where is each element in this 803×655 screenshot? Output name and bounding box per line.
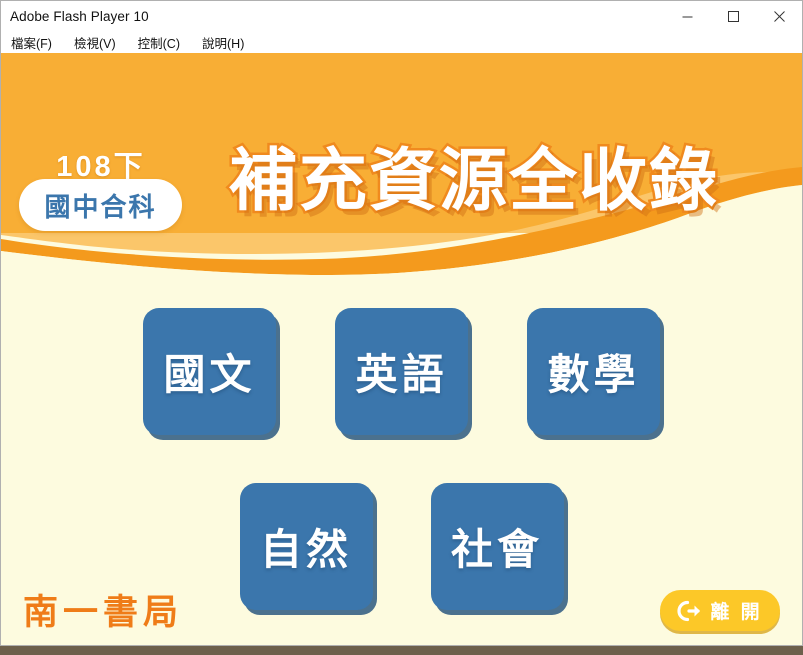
exit-button[interactable]: 離 開: [660, 590, 780, 631]
subject-button-english[interactable]: 英語: [335, 308, 468, 435]
flash-stage: 108下 國中合科 補充資源全收錄 國文 英語 數學: [1, 53, 802, 645]
menu-item-control[interactable]: 控制(C): [136, 32, 182, 53]
minimize-icon: [682, 11, 693, 22]
subject-grid: 國文 英語 數學 自然 社會: [1, 308, 802, 610]
page-title: 補充資源全收錄: [229, 125, 719, 224]
close-icon: [774, 11, 785, 22]
subject-row-1: 國文 英語 數學: [1, 308, 802, 435]
subject-button-math[interactable]: 數學: [527, 308, 660, 435]
exit-button-label: 離 開: [710, 597, 762, 624]
close-button[interactable]: [756, 1, 802, 31]
title-bar: Adobe Flash Player 10: [1, 1, 802, 31]
menu-item-help[interactable]: 說明(H): [200, 32, 246, 53]
flash-player-window: Adobe Flash Player 10: [0, 0, 803, 646]
subject-label: 數學: [547, 341, 639, 402]
level-badge: 國中合科: [19, 179, 182, 231]
menu-item-file[interactable]: 檔案(F): [9, 32, 54, 53]
subject-button-chinese[interactable]: 國文: [143, 308, 276, 435]
window-controls: [664, 1, 802, 31]
exit-arrow-icon: [677, 600, 701, 622]
menu-item-view[interactable]: 檢視(V): [72, 32, 118, 53]
subject-label: 自然: [260, 516, 352, 577]
subject-button-social-studies[interactable]: 社會: [431, 483, 564, 610]
menu-bar: 檔案(F) 檢視(V) 控制(C) 說明(H): [1, 31, 802, 53]
subject-label: 國文: [163, 341, 255, 402]
subject-label: 英語: [355, 341, 447, 402]
maximize-icon: [728, 11, 739, 22]
minimize-button[interactable]: [664, 1, 710, 31]
screenshot-root: Adobe Flash Player 10: [0, 0, 803, 655]
window-title: Adobe Flash Player 10: [1, 9, 149, 24]
level-badge-label: 國中合科: [44, 187, 156, 224]
publisher-logo: 南一書局: [23, 584, 183, 635]
maximize-button[interactable]: [710, 1, 756, 31]
subject-label: 社會: [451, 516, 543, 577]
subject-button-science[interactable]: 自然: [240, 483, 373, 610]
